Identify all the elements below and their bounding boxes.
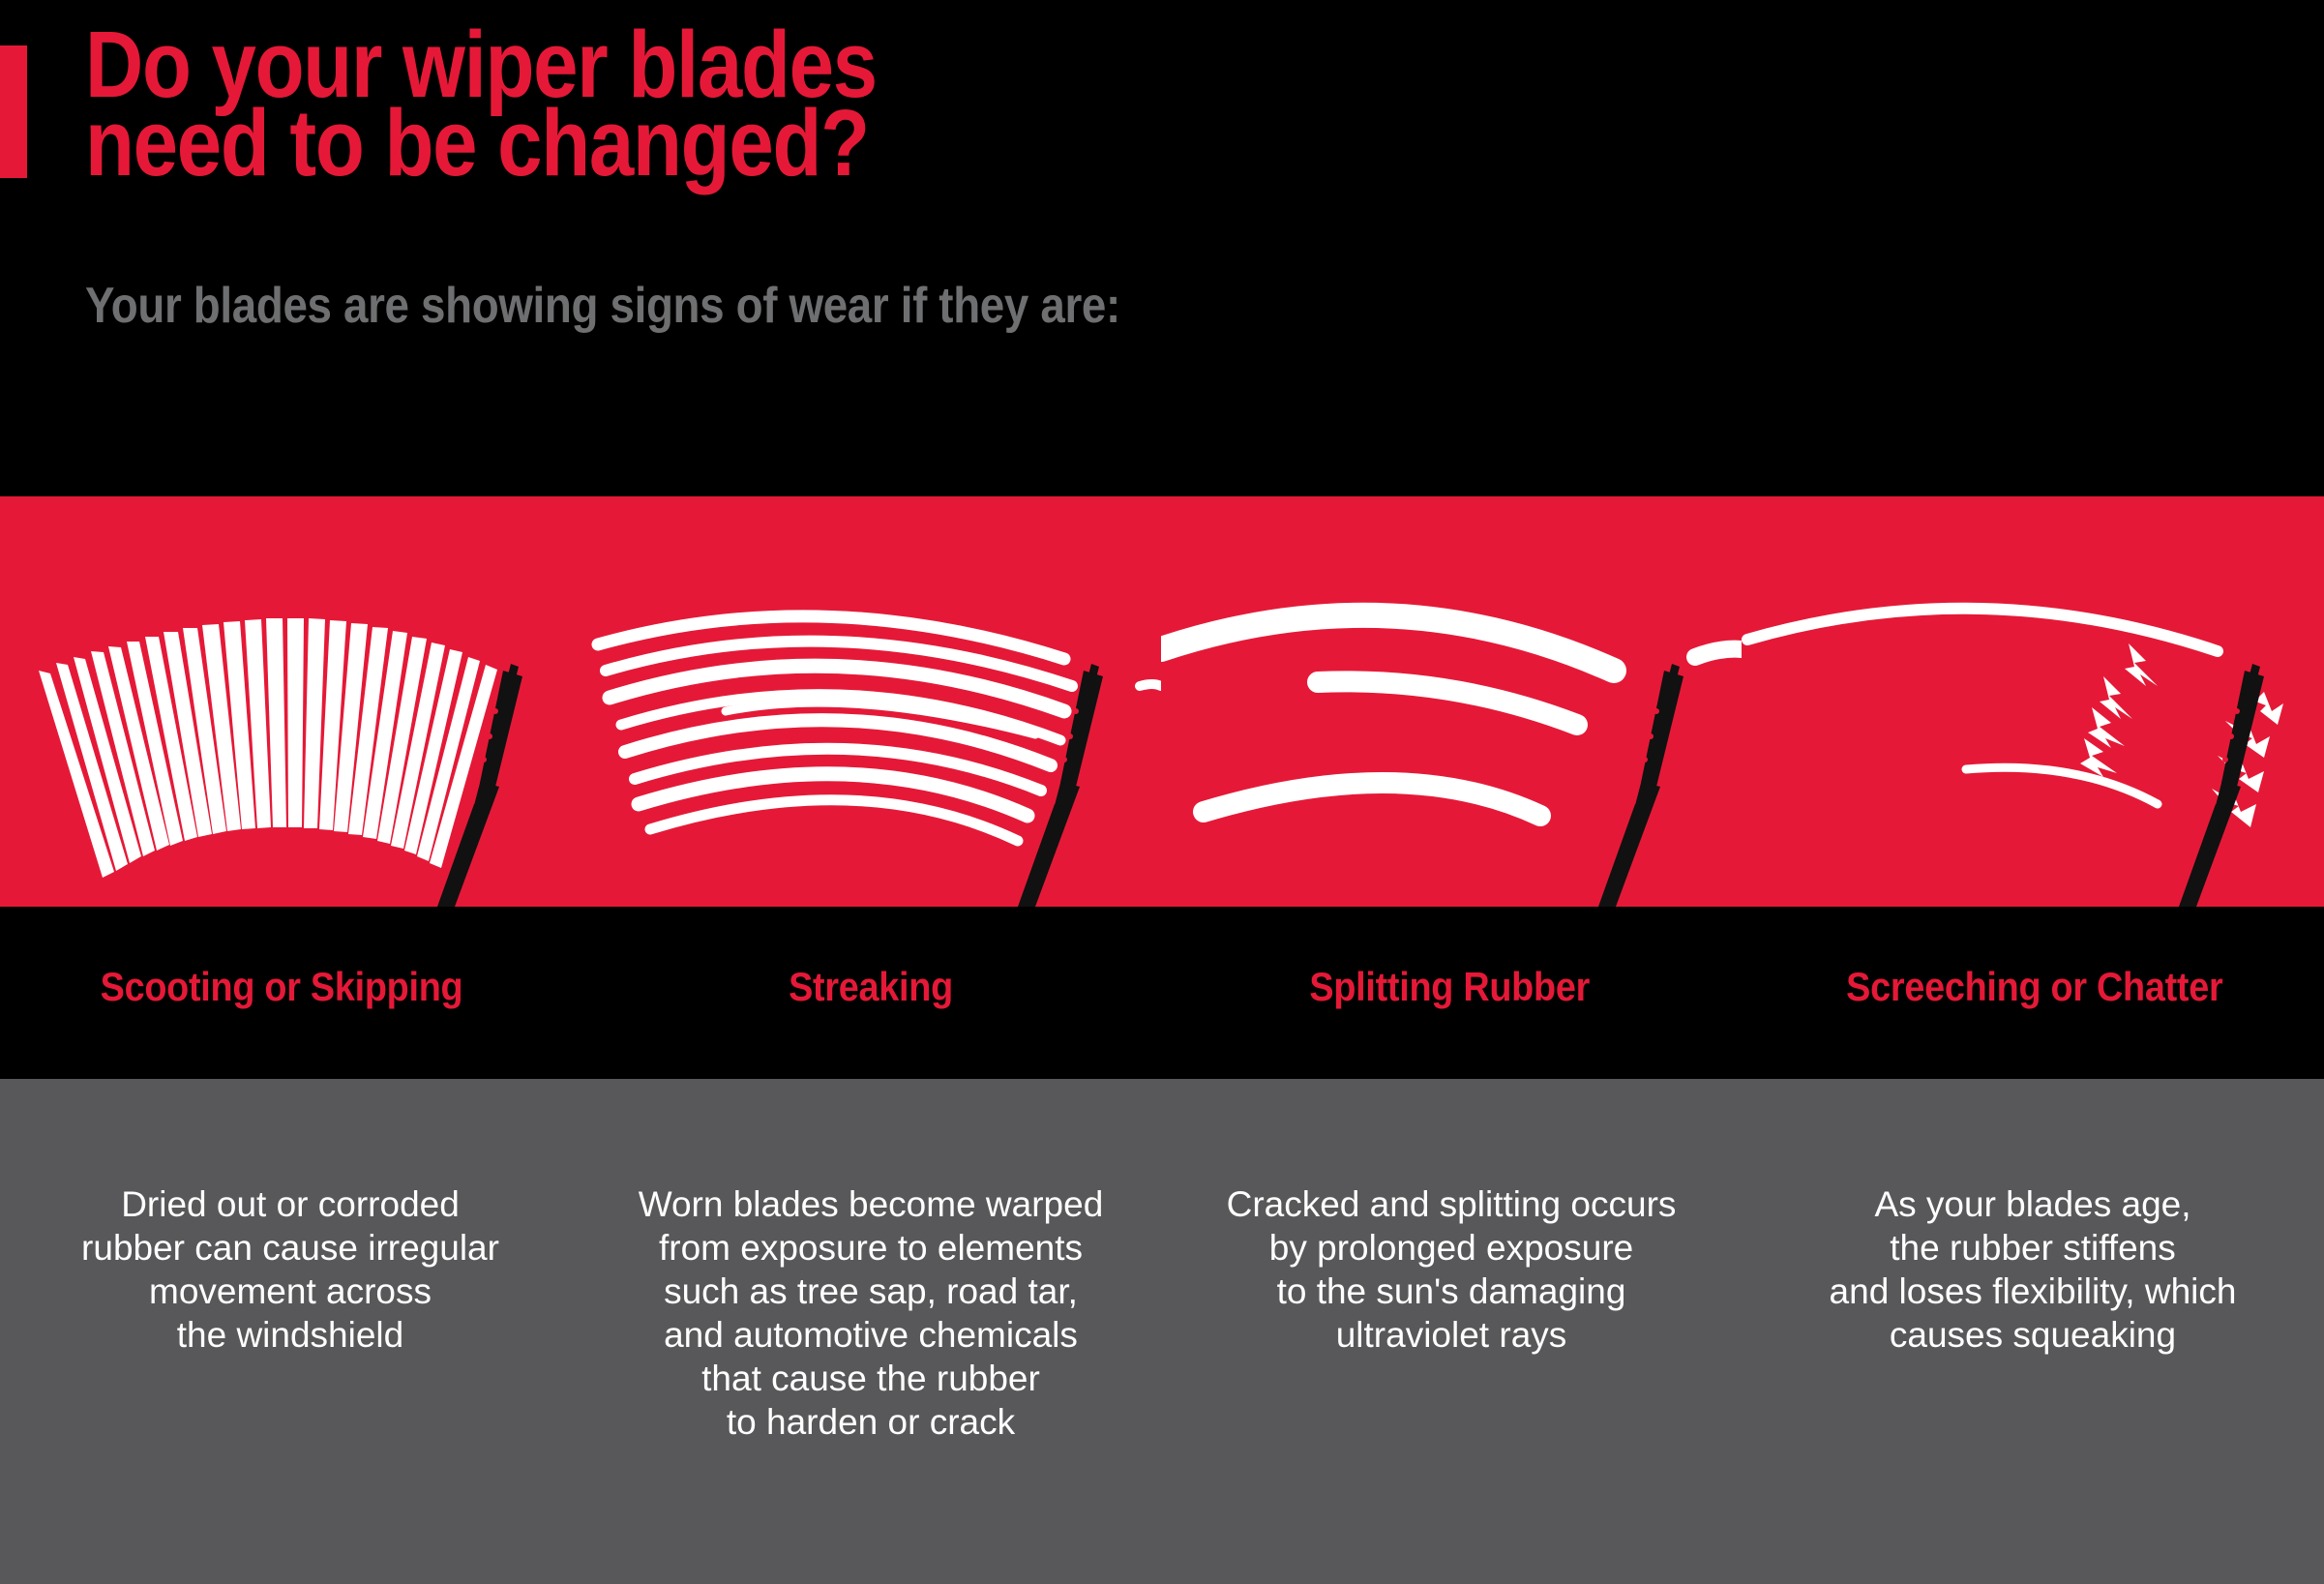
wiper-blade-split-arcs-icon: [1161, 496, 1742, 907]
panel-label-streaking: Streaking: [610, 965, 1132, 1019]
illustration-band: [0, 496, 2324, 907]
header-section: Do your wiper blades need to be changed?…: [0, 0, 2324, 496]
panel-description-splitting-rubber: Cracked and splitting occurs by prolonge…: [1161, 1182, 1742, 1357]
panel-label-screeching-or-chatter: Screeching or Chatter: [1773, 965, 2297, 1019]
wiper-blade-lightning-bolts-icon: [1742, 496, 2324, 907]
lightning-bolt-left-group: [2080, 643, 2158, 777]
wiper-blade-skipping-streaks-icon: [0, 496, 581, 907]
page-subtitle: Your blades are showing signs of wear if…: [85, 279, 1873, 333]
description-band: Dried out or corroded rubber can cause i…: [0, 1079, 2324, 1584]
illustration-splitting-rubber: [1161, 496, 1742, 907]
page-title: Do your wiper blades need to be changed?: [85, 25, 1832, 182]
illustration-streaking: [581, 496, 1161, 907]
panel-label-scooting-or-skipping: Scooting or Skipping: [20, 965, 543, 1019]
panel-label-splitting-rubber: Splitting Rubber: [1188, 965, 1711, 1019]
red-accent-bar: [0, 45, 27, 178]
panel-description-screeching-or-chatter: As your blades age, the rubber stiffens …: [1742, 1182, 2324, 1357]
infographic-page: Do your wiper blades need to be changed?…: [0, 0, 2324, 1584]
illustration-scooting-or-skipping: [0, 496, 581, 907]
panel-description-streaking: Worn blades become warped from exposure …: [581, 1182, 1161, 1444]
panel-description-scooting-or-skipping: Dried out or corroded rubber can cause i…: [0, 1182, 581, 1357]
illustration-screeching-or-chatter: [1742, 496, 2324, 907]
wiper-blade-streaking-arcs-icon: [581, 496, 1161, 907]
label-band: Scooting or Skipping Streaking Splitting…: [0, 907, 2324, 1079]
